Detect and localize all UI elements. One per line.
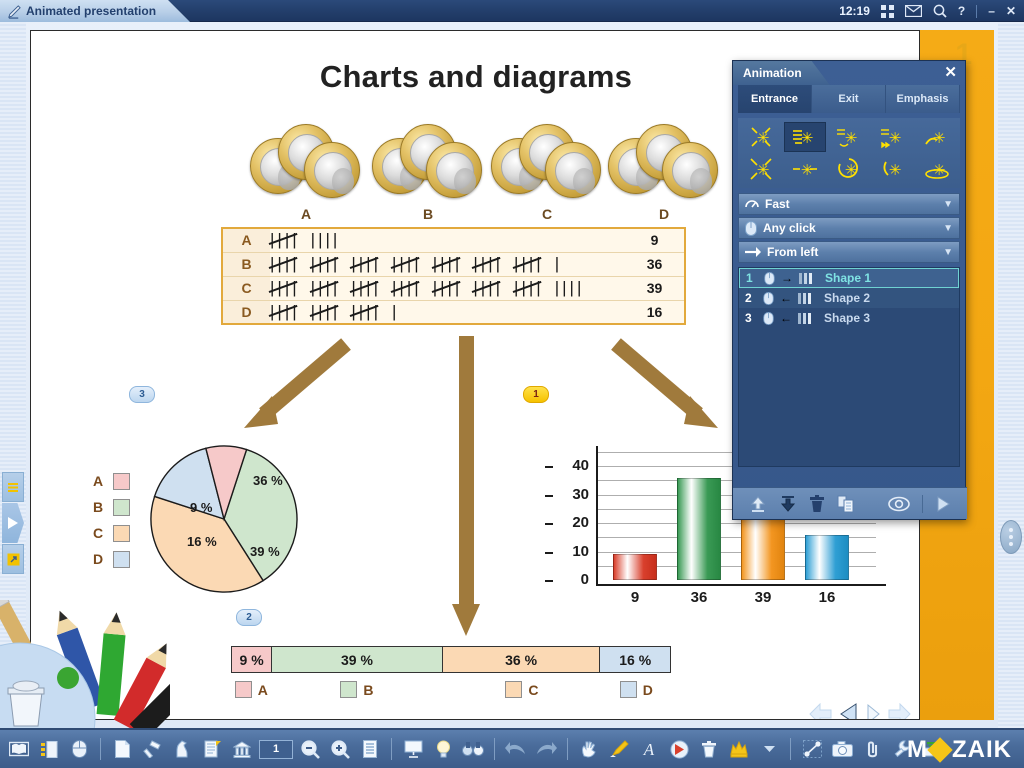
legend-label: B [93, 499, 105, 515]
list-item[interactable]: 1 → Shape 1 [739, 268, 959, 288]
tally-table[interactable]: A |||||||| 9 B |||||||||||||||||||||||||… [221, 227, 686, 325]
svg-text:✳: ✳ [889, 129, 902, 147]
legend-item: D [93, 546, 130, 572]
tally-total: 39 [625, 276, 685, 300]
tally-five: |||| [473, 254, 503, 274]
y-tick [545, 523, 553, 525]
camera-icon[interactable] [829, 734, 855, 764]
stack-segment-d: 16 % [600, 647, 670, 672]
animation-tabs: Entrance Exit Emphasis [738, 85, 960, 113]
list-item-index: 2 [745, 291, 757, 305]
list-item-label: Shape 2 [824, 291, 870, 305]
search-icon[interactable] [933, 4, 947, 18]
book-icon[interactable] [6, 734, 32, 764]
spin-effect[interactable]: ✳ [828, 154, 870, 184]
tab-entrance[interactable]: Entrance [738, 85, 812, 113]
undo-icon[interactable] [503, 734, 529, 764]
mail-icon[interactable] [905, 5, 922, 17]
svg-text:✳: ✳ [845, 161, 858, 179]
speed-icon [745, 197, 759, 211]
speed-value: Fast [765, 197, 943, 211]
legend-label: D [93, 551, 105, 567]
legend-item: C [93, 520, 130, 546]
stacked-bar-chart: 9 %39 %36 %16 % [231, 646, 671, 673]
play-icon[interactable] [935, 495, 951, 513]
tally-marks-a: |||||||| [270, 228, 625, 252]
table-row: C |||||||||||||||||||||||||||||||| 39 [222, 276, 685, 300]
bar-16 [805, 535, 849, 581]
tally-table-body: A |||||||| 9 B |||||||||||||||||||||||||… [222, 228, 685, 324]
effect-thumb-icon [798, 293, 814, 304]
tally-marks-c: |||||||||||||||||||||||||||||||| [270, 276, 625, 300]
tally-five: |||| [311, 278, 341, 298]
list-item-direction: → [781, 271, 793, 285]
close-icon[interactable]: ✕ [944, 64, 957, 82]
legend-swatch [113, 525, 130, 542]
window-title-tab[interactable]: Animated presentation [0, 0, 190, 22]
list-item-index: 1 [746, 271, 758, 285]
chevron-down-icon: ▼ [943, 247, 953, 258]
curve-path-effect[interactable]: ✳ [916, 122, 958, 152]
coin-group-a: A [246, 116, 366, 202]
animation-panel[interactable]: Animation ✕ Entrance Exit Emphasis ✳✳✳✳✳… [732, 60, 966, 520]
brand-diamond [927, 737, 952, 762]
stack-segment-b: 39 % [272, 647, 443, 672]
animation-list[interactable]: 1 → Shape 1 2 ← Shape 2 3 ← Shape 3 [738, 267, 960, 467]
coin-label-d: D [604, 206, 724, 222]
tally-five: |||| [433, 254, 463, 274]
x-tick-label: 16 [800, 589, 854, 606]
bar-36 [677, 478, 721, 580]
mouse-icon [764, 272, 775, 285]
list-item-direction: ← [780, 311, 792, 325]
badge-stacked[interactable]: 2 [236, 609, 262, 626]
svg-text:✳: ✳ [801, 129, 814, 147]
divider [976, 5, 977, 18]
mouse-icon [745, 221, 757, 236]
brand-logo: M ZAIK [907, 736, 1012, 764]
speed-dropdown[interactable]: Fast ▼ [738, 193, 960, 215]
expand-effect[interactable]: ✳ [740, 154, 782, 184]
coin-group-c: C [487, 116, 607, 202]
minimize-button[interactable]: – [988, 4, 995, 18]
legend-item: D [620, 681, 653, 698]
window-title: Animated presentation [26, 4, 156, 18]
svg-text:✳: ✳ [757, 129, 770, 147]
arrow-to-bar [606, 336, 726, 431]
table-row: D ||||||||||||| 16 [222, 300, 685, 324]
tally-total: 16 [625, 300, 685, 324]
tally-total: 36 [625, 252, 685, 276]
svg-text:✳: ✳ [933, 161, 946, 179]
tab-emphasis[interactable]: Emphasis [886, 85, 960, 113]
preview-eye-icon[interactable] [888, 496, 910, 512]
divider [494, 738, 495, 760]
chevron-down-icon: ▼ [943, 223, 953, 234]
notes-icon[interactable] [199, 734, 225, 764]
y-tick [545, 495, 553, 497]
brand-zaik: ZAIK [952, 736, 1012, 764]
gridline [596, 523, 876, 524]
clock: 12:19 [839, 4, 870, 18]
trash-icon[interactable] [696, 734, 722, 764]
effect-thumb-icon [799, 273, 815, 284]
arrow-to-pie [236, 336, 356, 431]
move-down-icon[interactable] [779, 495, 797, 513]
list-item-direction: ← [780, 291, 792, 305]
legend-label: A [258, 682, 268, 698]
media-icon[interactable] [666, 734, 692, 764]
pie-label-d: 16 % [187, 534, 217, 549]
tally-ones: | [392, 302, 399, 322]
right-rail [998, 22, 1024, 728]
animation-panel-header: Animation ✕ [733, 61, 965, 85]
legend-swatch [113, 499, 130, 516]
prev-arrow[interactable] [839, 703, 859, 720]
pie-label-b: 36 % [253, 473, 283, 488]
left-rail-buttons [2, 472, 24, 575]
coin-label-c: C [487, 206, 607, 222]
tally-five: |||| [514, 278, 544, 298]
tally-five: |||| [473, 278, 503, 298]
pie-chart-svg [149, 444, 299, 594]
legend-swatch [235, 681, 252, 698]
coin-group-d: D [604, 116, 724, 202]
mouse-icon[interactable] [66, 734, 92, 764]
tally-five: |||| [392, 278, 422, 298]
stretch-effect[interactable]: ✳ [784, 154, 826, 184]
legend-item: A [235, 681, 268, 698]
tally-five: |||| [270, 230, 300, 250]
tally-five: |||| [433, 278, 463, 298]
copy-icon[interactable] [837, 495, 855, 513]
tools-icon[interactable] [139, 734, 165, 764]
legend-swatch [113, 551, 130, 568]
contents-icon[interactable] [36, 734, 62, 764]
rail-knob[interactable] [1000, 520, 1022, 554]
tally-five: |||| [311, 302, 341, 322]
y-tick [545, 466, 553, 468]
legend-swatch [620, 681, 637, 698]
tally-five: |||| [392, 254, 422, 274]
animation-panel-title-tab: Animation [733, 61, 830, 85]
slide-navigation [809, 703, 911, 720]
direction-value: From left [767, 245, 943, 259]
tally-five: |||| [351, 278, 381, 298]
stacked-bar-legend: ABCD [231, 681, 671, 703]
chevron-down-icon[interactable] [756, 734, 782, 764]
play-icon[interactable] [2, 503, 24, 543]
list-item-index: 3 [745, 311, 757, 325]
bar-chart-x-axis [596, 584, 886, 586]
tally-five: |||| [514, 254, 544, 274]
bar-9 [613, 554, 657, 580]
pen-icon [7, 4, 22, 19]
tally-five: |||| [270, 254, 300, 274]
redo-icon[interactable] [533, 734, 559, 764]
pie-legend: A B C D [93, 468, 130, 572]
svg-text:✳: ✳ [757, 161, 770, 179]
pie-chart [149, 444, 299, 594]
divider [790, 738, 791, 760]
list-item[interactable]: 3 ← Shape 3 [739, 308, 959, 328]
delete-icon[interactable] [809, 495, 825, 513]
tally-five: |||| [270, 278, 300, 298]
legend-item: C [505, 681, 538, 698]
badge-bar[interactable]: 1 [523, 386, 549, 403]
hand-icon[interactable] [576, 734, 602, 764]
museum-icon[interactable] [229, 734, 255, 764]
shapes-icon[interactable] [799, 734, 825, 764]
bulb-icon[interactable] [430, 734, 456, 764]
swivel-in-effect[interactable]: ✳ [828, 122, 870, 152]
tally-letter: D [222, 300, 270, 324]
effect-thumb-icon [798, 313, 814, 324]
close-button[interactable]: ✕ [1006, 4, 1016, 18]
coin-label-b: B [368, 206, 488, 222]
y-tick-label: 10 [572, 543, 589, 560]
mouse-icon [763, 312, 774, 325]
move-up-icon[interactable] [749, 495, 767, 513]
trigger-value: Any click [763, 221, 943, 235]
legend-swatch [505, 681, 522, 698]
y-tick [545, 580, 553, 582]
tally-five: |||| [311, 254, 341, 274]
export-icon[interactable] [2, 544, 24, 574]
y-tick-label: 30 [572, 486, 589, 503]
crown-icon[interactable] [726, 734, 752, 764]
new-page-icon[interactable] [109, 734, 135, 764]
divider [567, 738, 568, 760]
rotate-effect[interactable]: ✳ [872, 154, 914, 184]
coin-group-b: B [368, 116, 488, 202]
svg-text:✳: ✳ [889, 161, 902, 179]
left-rail [0, 22, 26, 728]
burst-effect[interactable]: ✳ [740, 122, 782, 152]
tally-five: |||| [351, 254, 381, 274]
tally-ones: | [555, 254, 562, 274]
fast-fly-effect[interactable]: ✳ [872, 122, 914, 152]
y-tick-label: 20 [572, 514, 589, 531]
divider [922, 495, 923, 513]
effect-grid: ✳✳✳✳✳✳✳✳✳✳ [738, 118, 960, 188]
stack-segment-a: 9 % [232, 647, 272, 672]
fly-in-effect[interactable]: ✳ [784, 122, 826, 152]
x-tick-label: 36 [672, 589, 726, 606]
tally-total: 9 [625, 228, 685, 252]
direction-dropdown[interactable]: From left ▼ [738, 241, 960, 263]
list-item[interactable]: 2 ← Shape 2 [739, 288, 959, 308]
bar-chart-y-labels: 010203040 [551, 446, 589, 586]
tally-ones: |||| [555, 278, 585, 298]
pie-label-c: 39 % [250, 544, 280, 559]
x-tick-label: 9 [608, 589, 662, 606]
coin-label-a: A [246, 206, 366, 222]
highlighter-icon[interactable] [606, 734, 632, 764]
svg-text:✳: ✳ [933, 129, 946, 147]
pie-label-a: 9 % [190, 500, 212, 515]
mouse-icon [763, 292, 774, 305]
tally-marks-b: ||||||||||||||||||||||||||||| [270, 252, 625, 276]
help-icon[interactable]: ? [958, 4, 965, 18]
orbit-effect[interactable]: ✳ [916, 154, 958, 184]
last-arrow[interactable] [887, 703, 911, 720]
direction-icon [745, 246, 761, 258]
bottom-toolbar: 1 A M ZAIK [0, 728, 1024, 768]
tally-letter: C [222, 276, 270, 300]
animation-panel-title: Animation [743, 66, 802, 80]
table-row: B ||||||||||||||||||||||||||||| 36 [222, 252, 685, 276]
presentation-icon[interactable] [400, 734, 426, 764]
badge-pie[interactable]: 3 [129, 386, 155, 403]
list-icon[interactable] [357, 734, 383, 764]
legend-label: C [93, 525, 105, 541]
zoom-in-icon[interactable] [327, 734, 353, 764]
stack-segment-c: 36 % [443, 647, 601, 672]
titlebar-controls: 12:19 ? – ✕ [839, 0, 1016, 22]
brand-m: M [907, 736, 928, 764]
page-input[interactable]: 1 [259, 740, 293, 759]
tally-marks-d: ||||||||||||| [270, 300, 625, 324]
y-tick [545, 552, 553, 554]
zoom-out-icon[interactable] [297, 734, 323, 764]
tally-ones: |||| [311, 230, 341, 250]
animation-panel-footer [733, 487, 967, 519]
y-tick-label: 40 [572, 457, 589, 474]
legend-item: A [93, 468, 130, 494]
chess-icon[interactable] [169, 734, 195, 764]
legend-item: B [340, 681, 373, 698]
grid-icon[interactable] [881, 5, 894, 18]
legend-label: A [93, 473, 105, 489]
menu-icon[interactable] [2, 472, 24, 502]
list-item-label: Shape 3 [824, 311, 870, 325]
list-item-label: Shape 1 [825, 271, 871, 285]
legend-label: D [643, 682, 653, 698]
tab-exit[interactable]: Exit [812, 85, 886, 113]
table-row: A |||||||| 9 [222, 228, 685, 252]
legend-swatch [113, 473, 130, 490]
clip-icon[interactable] [859, 734, 885, 764]
legend-item: B [93, 494, 130, 520]
chevron-down-icon: ▼ [943, 199, 953, 210]
tally-five: |||| [270, 302, 300, 322]
svg-text:A: A [643, 740, 655, 758]
divider [100, 738, 101, 760]
binoculars-icon[interactable] [460, 734, 486, 764]
trigger-dropdown[interactable]: Any click ▼ [738, 217, 960, 239]
divider [391, 738, 392, 760]
svg-text:✳: ✳ [845, 129, 858, 147]
x-tick-label: 39 [736, 589, 790, 606]
bar-chart-y-axis [596, 446, 598, 586]
arrow-to-stacked [451, 336, 481, 641]
legend-label: B [363, 682, 373, 698]
y-tick-label: 0 [581, 571, 589, 588]
tally-five: |||| [351, 302, 381, 322]
next-arrow[interactable] [865, 703, 881, 720]
legend-label: C [528, 682, 538, 698]
text-icon[interactable]: A [636, 734, 662, 764]
tally-letter: B [222, 252, 270, 276]
tally-letter: A [222, 228, 270, 252]
svg-text:✳: ✳ [801, 161, 814, 179]
first-arrow[interactable] [809, 703, 833, 720]
window-titlebar: Animated presentation 12:19 ? – ✕ [0, 0, 1024, 22]
legend-swatch [340, 681, 357, 698]
